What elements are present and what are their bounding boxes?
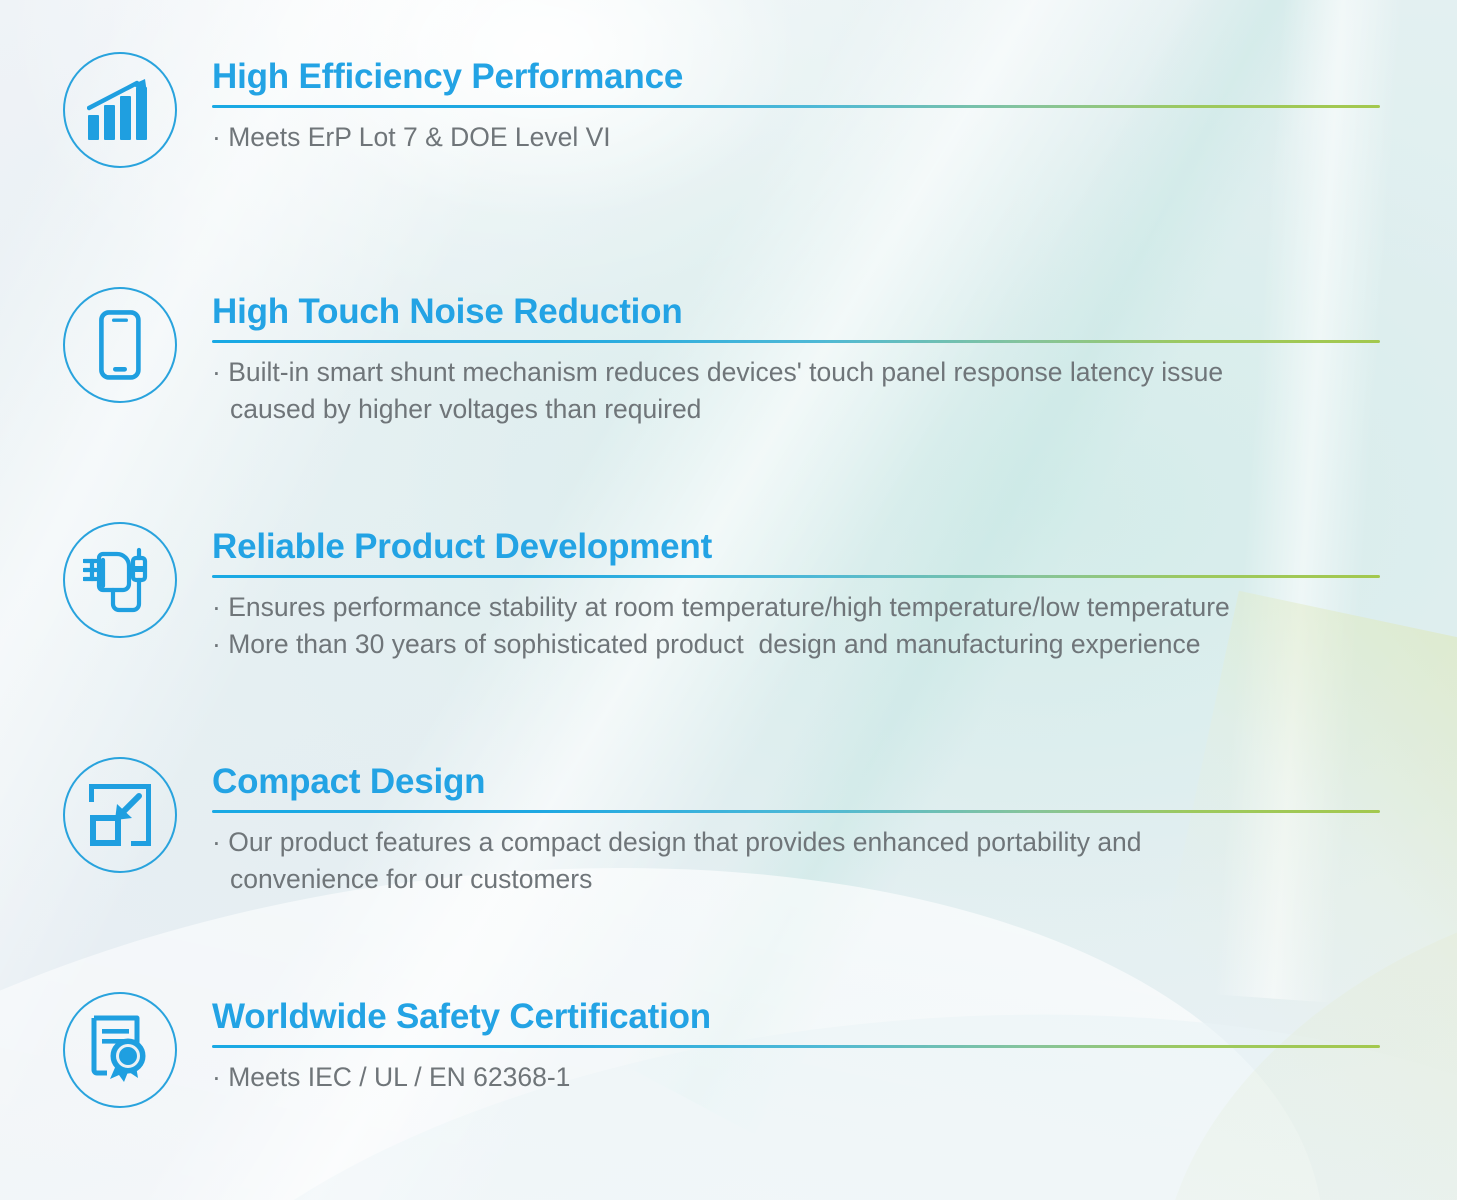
feature-icon-wrapper	[62, 992, 178, 1108]
feature-title: Reliable Product Development	[212, 526, 1382, 568]
feature-bullet-list: · Built-in smart shunt mechanism reduces…	[212, 354, 1382, 428]
feature-divider	[212, 340, 1380, 343]
feature-bullet: · Built-in smart shunt mechanism reduces…	[212, 354, 1382, 428]
bullet-dot: ·	[212, 122, 221, 152]
bar-chart-growth-icon	[63, 52, 177, 168]
feature-body: Reliable Product Development· Ensures pe…	[212, 526, 1382, 663]
feature-divider	[212, 575, 1380, 578]
feature-body: High Efficiency Performance· Meets ErP L…	[212, 56, 1382, 156]
compact-resize-icon	[63, 757, 177, 873]
certificate-award-icon	[63, 992, 177, 1108]
feature-title: Worldwide Safety Certification	[212, 996, 1382, 1038]
feature-body: Worldwide Safety Certification· Meets IE…	[212, 996, 1382, 1096]
feature-bullet: · Meets IEC / UL / EN 62368-1	[212, 1059, 1382, 1096]
bullet-line: Ensures performance stability at room te…	[228, 592, 1230, 622]
feature-bullet: · More than 30 years of sophisticated pr…	[212, 626, 1382, 663]
bullet-line: Meets IEC / UL / EN 62368-1	[228, 1062, 570, 1092]
power-adapter-icon	[63, 522, 177, 638]
certificate-award-icon	[87, 1015, 153, 1085]
feature-icon-wrapper	[62, 52, 178, 168]
feature-divider	[212, 105, 1380, 108]
bar-chart-growth-icon	[87, 79, 153, 141]
feature-divider	[212, 810, 1380, 813]
compact-resize-icon	[89, 784, 151, 846]
feature-bullet-list: · Meets ErP Lot 7 & DOE Level VI	[212, 119, 1382, 156]
bullet-dot: ·	[212, 1062, 221, 1092]
smartphone-icon	[63, 287, 177, 403]
smartphone-icon	[99, 310, 141, 380]
power-adapter-icon	[83, 546, 157, 614]
bullet-line: Built-in smart shunt mechanism reduces d…	[228, 357, 1223, 387]
feature-bullet: · Ensures performance stability at room …	[212, 589, 1382, 626]
feature-highlights-page: High Efficiency Performance· Meets ErP L…	[0, 0, 1457, 1200]
feature-bullet-list: · Ensures performance stability at room …	[212, 589, 1382, 663]
feature-bullet-list: · Meets IEC / UL / EN 62368-1	[212, 1059, 1382, 1096]
feature-title: High Efficiency Performance	[212, 56, 1382, 98]
bullet-line: Meets ErP Lot 7 & DOE Level VI	[228, 122, 610, 152]
feature-bullet: · Meets ErP Lot 7 & DOE Level VI	[212, 119, 1382, 156]
feature-body: High Touch Noise Reduction· Built-in sma…	[212, 291, 1382, 428]
feature-bullet-list: · Our product features a compact design …	[212, 824, 1382, 898]
feature-icon-wrapper	[62, 757, 178, 873]
bullet-dot: ·	[212, 357, 221, 387]
bullet-line: Our product features a compact design th…	[228, 827, 1141, 857]
feature-title: Compact Design	[212, 761, 1382, 803]
feature-title: High Touch Noise Reduction	[212, 291, 1382, 333]
bullet-line: convenience for our customers	[212, 861, 1382, 898]
feature-divider	[212, 1045, 1380, 1048]
feature-body: Compact Design· Our product features a c…	[212, 761, 1382, 898]
bullet-line: More than 30 years of sophisticated prod…	[228, 629, 1200, 659]
bullet-dot: ·	[212, 629, 221, 659]
bullet-dot: ·	[212, 592, 221, 622]
feature-icon-wrapper	[62, 522, 178, 638]
bullet-line: caused by higher voltages than required	[212, 391, 1382, 428]
feature-bullet: · Our product features a compact design …	[212, 824, 1382, 898]
feature-icon-wrapper	[62, 287, 178, 403]
bullet-dot: ·	[212, 827, 221, 857]
